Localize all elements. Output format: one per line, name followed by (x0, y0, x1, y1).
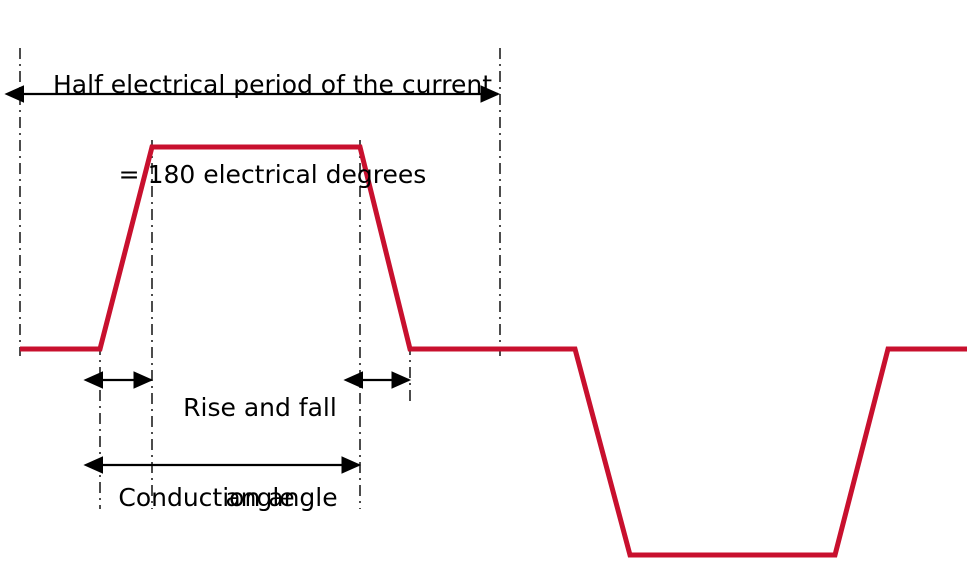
conduction-angle-label: Conduction angle (88, 423, 368, 573)
conduction-angle-label-text: Conduction angle (88, 483, 368, 513)
figure-canvas: Half electrical period of the current = … (0, 0, 967, 573)
half-period-label-line2: = 180 electrical degrees (0, 160, 545, 190)
half-period-label-line1: Half electrical period of the current (0, 70, 545, 100)
rise-and-fall-angle-label-line1: Rise and fall (155, 393, 365, 423)
half-period-label: Half electrical period of the current = … (0, 10, 545, 250)
